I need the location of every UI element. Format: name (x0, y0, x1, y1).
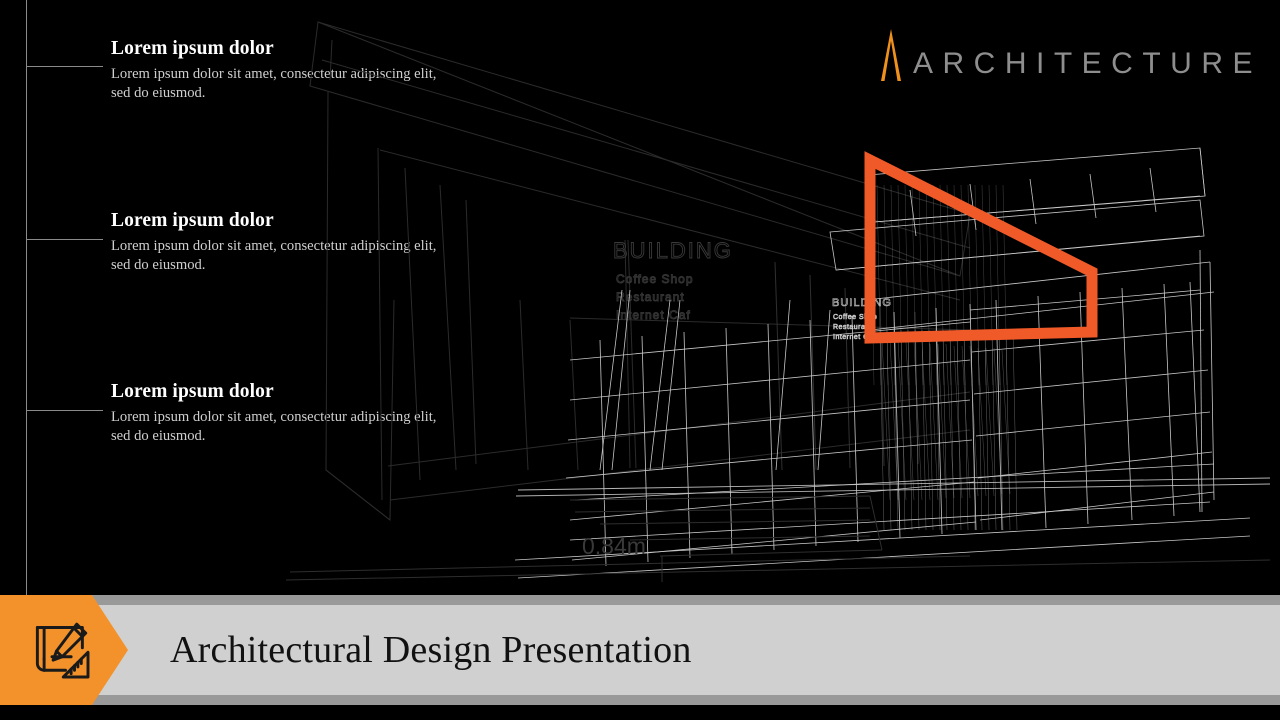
footer-title-text: Architectural Design Presentation (170, 595, 692, 705)
blueprint-pencil-ruler-icon (25, 614, 97, 686)
svg-text:Restaurant: Restaurant (616, 290, 685, 304)
vertical-rail (26, 0, 27, 598)
footer-title-bar: Architectural Design Presentation (0, 595, 1280, 705)
logo-text: ARCHITECTURE (913, 49, 1262, 83)
connector-line-1 (26, 66, 103, 67)
dimension-label: 0.84m (582, 533, 646, 559)
svg-text:Coffee Shop: Coffee Shop (616, 272, 694, 286)
brand-logo: ARCHITECTURE (873, 27, 1262, 83)
caret-a-icon (873, 27, 909, 83)
svg-text:BUILDING: BUILDING (613, 238, 733, 263)
bottom-black-strip (0, 705, 1280, 720)
slide-root: Lorem ipsum dolor Lorem ipsum dolor sit … (0, 0, 1280, 720)
svg-text:BUILDING: BUILDING (832, 297, 892, 309)
connector-line-2 (26, 239, 103, 240)
signage-large: BUILDING Coffee Shop Restaurant Internet… (613, 238, 733, 322)
connector-line-3 (26, 410, 103, 411)
architectural-rendering: BUILDING Coffee Shop Restaurant Internet… (270, 0, 1280, 598)
